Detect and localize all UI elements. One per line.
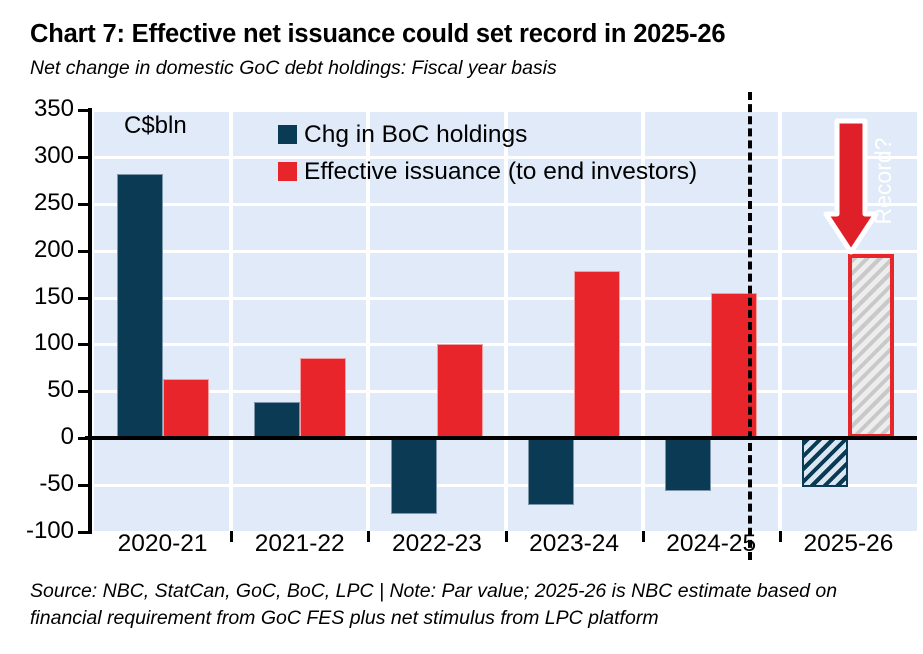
category-gridline — [229, 110, 233, 532]
x-axis-tick-label: 2022-23 — [368, 530, 505, 558]
bar-2022-23-issuance — [437, 344, 483, 438]
bar-2025-26-issuance — [848, 254, 894, 438]
bar-2025-26-boc — [802, 438, 848, 487]
chart-subtitle: Net change in domestic GoC debt holdings… — [30, 57, 557, 80]
bar-2020-21-boc — [117, 174, 163, 438]
source-note: Source: NBC, StatCan, GoC, BoC, LPC | No… — [30, 578, 910, 632]
x-axis-tick — [367, 531, 370, 542]
down-arrow-icon — [823, 118, 879, 258]
y-axis-tick-label: 300 — [6, 144, 74, 168]
x-axis-tick-label: 2020-21 — [94, 530, 231, 558]
y-axis-line — [88, 108, 92, 534]
legend-label-issuance: Effective issuance (to end investors) — [304, 159, 697, 185]
legend-item-boc: Chg in BoC holdings — [278, 116, 697, 153]
x-axis-tick — [642, 531, 645, 542]
x-axis-tick — [230, 531, 233, 542]
x-axis-tick — [505, 531, 508, 542]
legend-swatch-navy — [278, 125, 297, 144]
record-annotation-arrow: Record? — [823, 118, 879, 258]
category-gridline — [778, 110, 782, 532]
y-axis-tick-label: -100 — [6, 519, 74, 543]
bar-2023-24-issuance — [574, 271, 620, 438]
x-axis-tick-label: 2023-24 — [506, 530, 643, 558]
y-axis-tick-label: 350 — [6, 97, 74, 121]
y-axis-tick-label: 100 — [6, 331, 74, 355]
legend-item-issuance: Effective issuance (to end investors) — [278, 153, 697, 190]
zero-line — [85, 436, 917, 440]
bar-2023-24-boc — [528, 438, 574, 505]
x-axis-tick-label: 2025-26 — [780, 530, 917, 558]
bar-2024-25-boc — [665, 438, 711, 491]
bar-2022-23-boc — [391, 438, 437, 514]
legend-swatch-red — [278, 162, 297, 181]
forecast-divider-line — [748, 92, 752, 560]
bar-2020-21-issuance — [163, 379, 209, 438]
y-axis-tick-label: 50 — [6, 378, 74, 402]
bar-2021-22-boc — [254, 402, 300, 439]
x-axis-tick-label: 2021-22 — [231, 530, 368, 558]
y-axis-tick-label: -50 — [6, 472, 74, 496]
chart-legend: Chg in BoC holdings Effective issuance (… — [278, 116, 697, 190]
chart-title: Chart 7: Effective net issuance could se… — [30, 20, 725, 49]
x-axis-tick — [779, 531, 782, 542]
x-axis-tick-label: 2024-25 — [643, 530, 780, 558]
y-axis-tick-label: 150 — [6, 285, 74, 309]
y-axis-tick-label: 0 — [6, 425, 74, 449]
units-label: C$bln — [124, 112, 187, 140]
bar-2021-22-issuance — [300, 358, 346, 439]
y-axis-tick-label: 250 — [6, 191, 74, 215]
legend-label-boc: Chg in BoC holdings — [304, 122, 527, 148]
y-axis-tick-label: 200 — [6, 238, 74, 262]
chart-figure: Chart 7: Effective net issuance could se… — [0, 0, 923, 654]
